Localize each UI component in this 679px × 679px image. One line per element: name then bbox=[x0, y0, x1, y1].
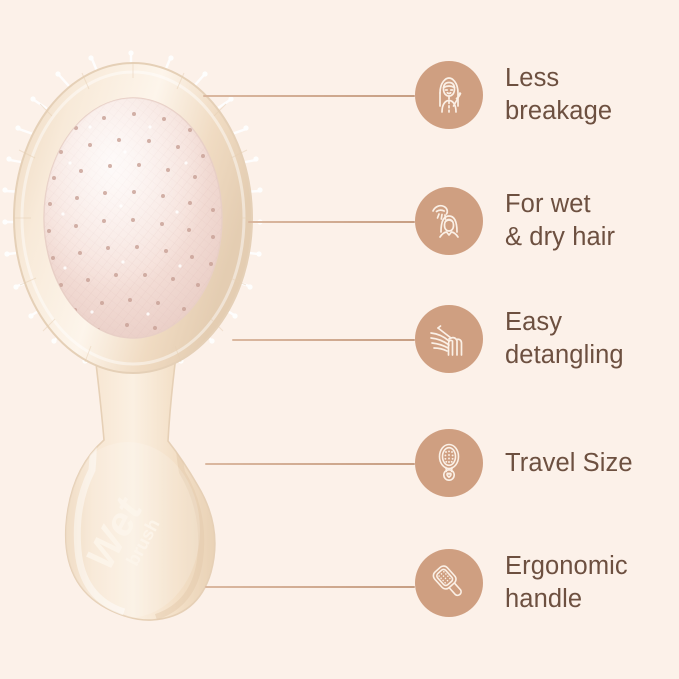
connector-line-1 bbox=[203, 95, 415, 97]
feature-item-easy-detangling[interactable]: Easy detangling bbox=[415, 305, 624, 373]
feature-label-5: Ergonomic handle bbox=[505, 550, 628, 615]
feature-item-ergonomic-handle[interactable]: Ergonomic handle bbox=[415, 549, 628, 617]
feature-icon-badge-1 bbox=[415, 61, 483, 129]
feature-item-less-breakage[interactable]: Less breakage bbox=[415, 61, 612, 129]
mini-oval-brush-icon bbox=[427, 441, 471, 485]
feature-icon-badge-2 bbox=[415, 187, 483, 255]
feature-label-2: For wet & dry hair bbox=[505, 188, 615, 253]
feature-item-for-wet-dry-hair[interactable]: For wet & dry hair bbox=[415, 187, 615, 255]
showerhead-wet-hair-icon bbox=[427, 199, 471, 243]
feature-label-4: Travel Size bbox=[505, 447, 633, 480]
connector-line-4 bbox=[205, 463, 415, 465]
feature-icon-badge-5 bbox=[415, 549, 483, 617]
paddle-brush-handle-icon bbox=[427, 561, 471, 605]
infographic-canvas: Wet brush bbox=[0, 0, 679, 679]
brush-handle bbox=[56, 350, 215, 620]
feature-icon-badge-4 bbox=[415, 429, 483, 497]
hand-detangling-hair-icon bbox=[427, 317, 471, 361]
woman-brushing-hair-icon bbox=[427, 73, 471, 117]
connector-line-2 bbox=[248, 221, 415, 223]
connector-line-3 bbox=[232, 339, 415, 341]
feature-item-travel-size[interactable]: Travel Size bbox=[415, 429, 633, 497]
feature-label-1: Less breakage bbox=[505, 62, 612, 127]
feature-icon-badge-3 bbox=[415, 305, 483, 373]
feature-label-3: Easy detangling bbox=[505, 306, 624, 371]
connector-line-5 bbox=[205, 586, 415, 588]
